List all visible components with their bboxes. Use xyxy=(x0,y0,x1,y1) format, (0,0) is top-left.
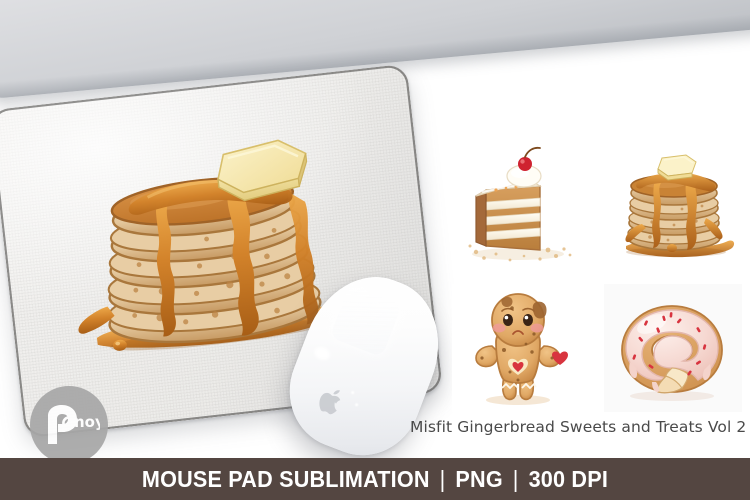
thumb-gingerbread-man[interactable] xyxy=(452,284,590,412)
banner-part-2: PNG xyxy=(455,466,502,492)
thumb-pancake-stack[interactable] xyxy=(604,142,742,270)
thumb-frosted-donut[interactable] xyxy=(604,284,742,412)
bottom-banner: MOUSE PAD SUBLIMATION | PNG | 300 DPI xyxy=(0,458,750,500)
svg-text:noy: noy xyxy=(74,413,100,431)
banner-label: MOUSE PAD SUBLIMATION | PNG | 300 DPI xyxy=(142,466,608,493)
banner-part-1: MOUSE PAD SUBLIMATION xyxy=(142,466,430,492)
design-preview-grid xyxy=(452,142,742,412)
pnoy-logo-icon: noy xyxy=(38,402,100,448)
banner-part-3: 300 DPI xyxy=(529,466,608,492)
thumb-layer-cake-slice[interactable] xyxy=(452,142,590,270)
collection-title: Misfit Gingerbread Sweets and Treats Vol… xyxy=(410,418,750,436)
product-mockup-canvas: X C V B N M < , > . ? / return xyxy=(0,0,750,500)
banner-separator: | xyxy=(436,466,449,492)
banner-separator: | xyxy=(509,466,522,492)
brand-watermark: noy xyxy=(30,386,108,464)
